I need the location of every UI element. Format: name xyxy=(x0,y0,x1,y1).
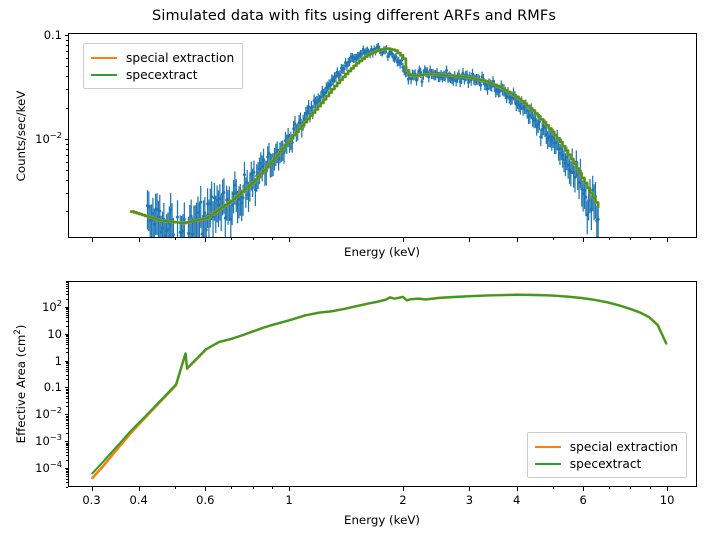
effective-area-ytick-minor xyxy=(66,428,68,429)
effective-area-xtick-label: 0.4 xyxy=(130,493,148,507)
effective-area-xtick-minor xyxy=(92,487,93,489)
effective-area-yaxis-label: Effective Area (cm2) xyxy=(14,325,28,444)
effective-area-ytick-minor xyxy=(66,479,68,480)
spectrum-xtick-minor xyxy=(253,238,254,240)
effective-area-ytick-minor xyxy=(66,340,68,341)
effective-area-ytick-minor xyxy=(66,406,68,407)
effective-area-xtick-minor xyxy=(583,487,584,489)
spectrum-ytick-minor xyxy=(66,40,68,41)
effective-area-ytick-minor xyxy=(66,474,68,475)
effective-area-ytick-minor xyxy=(66,392,68,393)
effective-area-ytick-minor xyxy=(66,365,68,366)
effective-area-ytick-minor xyxy=(66,398,68,399)
effective-area-ytick-minor xyxy=(66,487,68,488)
spectrum-xtick-minor xyxy=(139,238,140,240)
effective-area-ytick-minor xyxy=(66,311,68,312)
spectrum-xtick-minor xyxy=(630,238,631,240)
effective-area-ytick-minor xyxy=(66,476,68,477)
effective-area-ytick-minor xyxy=(66,449,68,450)
spectrum-ytick-minor xyxy=(66,45,68,46)
effective-area-ytick-minor xyxy=(66,344,68,345)
effective-area-ytick-minor xyxy=(66,369,68,370)
effective-area-ytick-minor xyxy=(66,362,68,363)
spectrum-xtick-minor xyxy=(175,238,176,240)
effective-area-ytick-minor xyxy=(66,317,68,318)
legend-swatch-special-extraction xyxy=(91,57,117,59)
spectrum-yaxis-label: Counts/sec/keV xyxy=(14,91,28,182)
effective-area-ytick-minor xyxy=(66,460,68,461)
effective-area-ytick-minor xyxy=(66,336,68,337)
effective-area-ytick-minor xyxy=(66,433,68,434)
effective-area-ytick-minor xyxy=(66,445,68,446)
legend-label-special-extraction-bottom: special extraction xyxy=(570,440,678,454)
spectrum-ytick-minor xyxy=(66,51,68,52)
spectrum-xaxis-label: Energy (keV) xyxy=(344,245,420,259)
effective-area-xtick-minor xyxy=(253,487,254,489)
spectrum-ytick-minor xyxy=(66,170,68,171)
spectrum-xtick-minor xyxy=(553,238,554,240)
effective-area-ytick-minor xyxy=(66,321,68,322)
legend-label-specextract: specextract xyxy=(126,68,198,82)
effective-area-ytick-minor xyxy=(66,389,68,390)
spectrum-ytick-minor xyxy=(66,144,68,145)
effective-area-xtick-minor xyxy=(553,487,554,489)
spectrum-ytick-minor xyxy=(66,89,68,90)
effective-area-xtick-label: 2 xyxy=(399,493,406,507)
legend-swatch-specextract-bottom xyxy=(535,463,561,465)
effective-area-ytick-minor xyxy=(66,443,68,444)
effective-area-ytick-minor xyxy=(66,315,68,316)
effective-area-ytick-minor xyxy=(66,338,68,339)
effective-area-ytick-minor xyxy=(66,417,68,418)
effective-area-ytick-minor xyxy=(66,423,68,424)
effective-area-ytick-minor xyxy=(66,390,68,391)
spectrum-xtick-minor xyxy=(650,238,651,240)
spectrum-ytick-minor xyxy=(66,149,68,150)
effective-area-plot-panel: special extraction specextract xyxy=(68,281,697,487)
effective-area-ytick-minor xyxy=(66,335,68,336)
spectrum-ytick-label: 0.1 xyxy=(16,28,62,42)
effective-area-ytick-minor xyxy=(66,379,68,380)
effective-area-xtick-minor xyxy=(175,487,176,489)
effective-area-ytick-minor xyxy=(66,308,68,309)
effective-area-ytick-minor xyxy=(66,425,68,426)
legend-label-specextract-bottom: specextract xyxy=(570,457,642,471)
effective-area-ytick-minor xyxy=(66,371,68,372)
effective-area-xtick-minor xyxy=(609,487,610,489)
effective-area-xtick-minor xyxy=(517,487,518,489)
spectrum-plot-panel: special extraction specextract xyxy=(68,33,697,238)
legend-item-special-extraction: special extraction xyxy=(91,49,234,66)
effective-area-xtick-minor xyxy=(205,487,206,489)
effective-area-ytick-minor xyxy=(66,299,68,300)
effective-area-ytick-minor xyxy=(66,284,68,285)
effective-area-ytick-minor xyxy=(66,294,68,295)
spectrum-ytick xyxy=(65,35,69,36)
effective-area-ytick-label: 10−4 xyxy=(16,461,62,475)
effective-area-ytick-minor xyxy=(66,367,68,368)
effective-area-ytick-minor xyxy=(66,282,68,283)
spectrum-xtick xyxy=(667,238,668,242)
effective-area-xtick-label: 1 xyxy=(285,493,292,507)
effective-area-ytick-minor xyxy=(66,420,68,421)
spectrum-ytick xyxy=(65,139,69,140)
effective-area-xtick-label: 4 xyxy=(513,493,520,507)
effective-area-xtick-minor xyxy=(469,487,470,489)
figure-title: Simulated data with fits using different… xyxy=(0,8,708,24)
legend-item-special-extraction-bottom: special extraction xyxy=(535,438,678,455)
effective-area-ytick-minor xyxy=(66,326,68,327)
effective-area-xtick-minor xyxy=(403,487,404,489)
effective-area-ytick-minor xyxy=(66,402,68,403)
effective-area-ytick-minor xyxy=(66,309,68,310)
effective-area-ytick-minor xyxy=(66,416,68,417)
effective-area-ytick-minor xyxy=(66,471,68,472)
spectrum-xtick-minor xyxy=(231,238,232,240)
effective-area-xtick-minor xyxy=(139,487,140,489)
effective-area-xtick-label: 0.3 xyxy=(82,493,100,507)
effective-area-xtick-minor xyxy=(231,487,232,489)
spectrum-ytick-minor xyxy=(66,193,68,194)
spectrum-xtick xyxy=(289,238,290,242)
spectrum-xtick-minor xyxy=(92,238,93,240)
spectrum-xtick-minor xyxy=(205,238,206,240)
effective-area-ytick-minor xyxy=(66,348,68,349)
effective-area-ytick-label: 102 xyxy=(16,300,62,314)
effective-area-xtick-minor xyxy=(650,487,651,489)
effective-area-xtick-label: 10 xyxy=(660,493,675,507)
effective-area-xtick-label: 6 xyxy=(580,493,587,507)
effective-area-ytick-minor xyxy=(66,482,68,483)
effective-area-ytick-minor xyxy=(66,342,68,343)
legend-item-specextract-bottom: specextract xyxy=(535,455,678,472)
effective-area-ytick-minor xyxy=(66,363,68,364)
spectrum-xtick-minor xyxy=(403,238,404,240)
effective-area-ytick-minor xyxy=(66,393,68,394)
effective-area-ytick-minor xyxy=(66,447,68,448)
effective-area-ytick-minor xyxy=(66,419,68,420)
spectrum-xtick-minor xyxy=(609,238,610,240)
effective-area-ytick-minor xyxy=(66,291,68,292)
spectrum-ytick-minor xyxy=(66,155,68,156)
effective-area-xtick xyxy=(667,487,668,491)
spectrum-xtick-minor xyxy=(517,238,518,240)
spectrum-ytick-minor xyxy=(66,108,68,109)
spectrum-ytick-minor xyxy=(66,162,68,163)
effective-area-xtick-label: 3 xyxy=(466,493,473,507)
spectrum-ytick-minor xyxy=(66,58,68,59)
effective-area-legend: special extraction specextract xyxy=(527,432,687,478)
effective-area-xtick-minor xyxy=(630,487,631,489)
spectrum-ytick-minor xyxy=(66,180,68,181)
spectrum-xtick-minor xyxy=(583,238,584,240)
effective-area-ytick-minor xyxy=(66,286,68,287)
effective-area-ytick-minor xyxy=(66,288,68,289)
legend-swatch-special-extraction-bottom xyxy=(535,446,561,448)
spectrum-ytick-minor xyxy=(66,66,68,67)
effective-area-xtick xyxy=(289,487,290,491)
spectrum-xtick-minor xyxy=(272,238,273,240)
effective-area-ytick-minor xyxy=(66,452,68,453)
effective-area-ytick-minor xyxy=(66,375,68,376)
spectrum-ytick-minor xyxy=(66,211,68,212)
legend-label-special-extraction: special extraction xyxy=(126,51,234,65)
spectrum-xtick-minor xyxy=(469,238,470,240)
effective-area-ytick-minor xyxy=(66,472,68,473)
legend-item-specextract: specextract xyxy=(91,66,234,83)
effective-area-ytick-minor xyxy=(66,352,68,353)
spectrum-legend: special extraction specextract xyxy=(83,43,243,89)
legend-swatch-specextract xyxy=(91,74,117,76)
effective-area-ytick-minor xyxy=(66,444,68,445)
figure-canvas: Simulated data with fits using different… xyxy=(0,0,708,545)
effective-area-ytick-minor xyxy=(66,281,68,282)
effective-area-ytick-minor xyxy=(66,313,68,314)
effective-area-ytick-minor xyxy=(66,469,68,470)
effective-area-ytick-minor xyxy=(66,455,68,456)
effective-area-xtick-minor xyxy=(272,487,273,489)
spectrum-ytick-minor xyxy=(66,76,68,77)
effective-area-ytick-minor xyxy=(66,396,68,397)
effective-area-xaxis-label: Energy (keV) xyxy=(344,513,420,527)
effective-area-xtick-label: 0.6 xyxy=(196,493,214,507)
